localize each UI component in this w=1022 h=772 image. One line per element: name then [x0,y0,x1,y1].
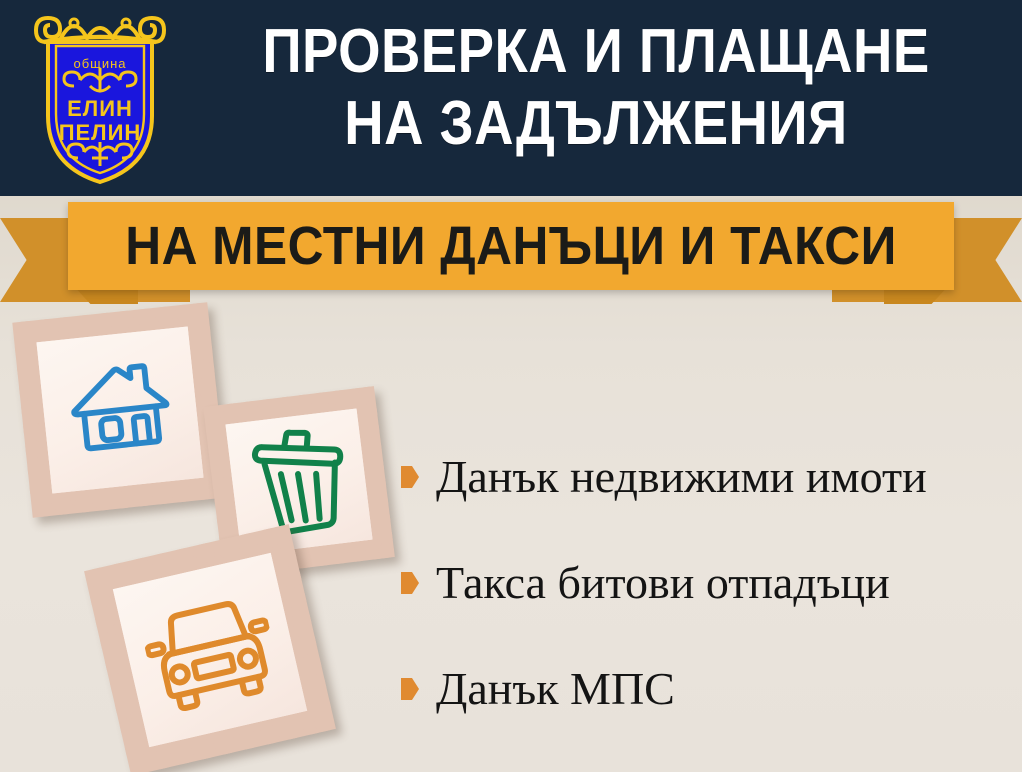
logo-name-line2: ПЕЛИН [59,120,142,145]
list-item[interactable]: Данък недвижими имоти [400,424,1010,530]
logo-name-line1: ЕЛИН [67,96,133,121]
municipality-logo: община ЕЛИН ПЕЛИН [30,6,170,188]
list-item-label: Такса битови отпадъци [436,558,890,608]
house-icon [63,351,179,467]
trash-bin-icon [243,422,355,541]
list-item-label: Данък МПС [436,664,675,714]
list-item[interactable]: Данък МПС [400,636,1010,742]
tax-type-list: Данък недвижими имоти Такса битови отпад… [400,424,1010,742]
page-title-line-1: ПРОВЕРКА И ПЛАЩАНЕ [235,16,957,88]
ribbon-banner: НА МЕСТНИ ДАНЪЦИ И ТАКСИ [68,202,954,290]
arrow-bullet-icon [400,676,420,702]
ribbon-label: НА МЕСТНИ ДАНЪЦИ И ТАКСИ [103,202,918,290]
poster-canvas: община ЕЛИН ПЕЛИН [0,0,1022,772]
header-title-block: ПРОВЕРКА И ПЛАЩАНЕ НА ЗАДЪЛЖЕНИЯ [186,16,1006,160]
property-stamp-card [12,302,227,517]
coat-of-arms-icon: община ЕЛИН ПЕЛИН [30,6,170,188]
list-item[interactable]: Такса битови отпадъци [400,530,1010,636]
header-bar: община ЕЛИН ПЕЛИН [0,0,1022,196]
subtitle-ribbon: НА МЕСТНИ ДАНЪЦИ И ТАКСИ [0,196,1022,308]
list-item-label: Данък недвижими имоти [436,452,927,502]
arrow-bullet-icon [400,570,420,596]
arrow-bullet-icon [400,464,420,490]
page-title-line-2: НА ЗАДЪЛЖЕНИЯ [235,88,957,160]
